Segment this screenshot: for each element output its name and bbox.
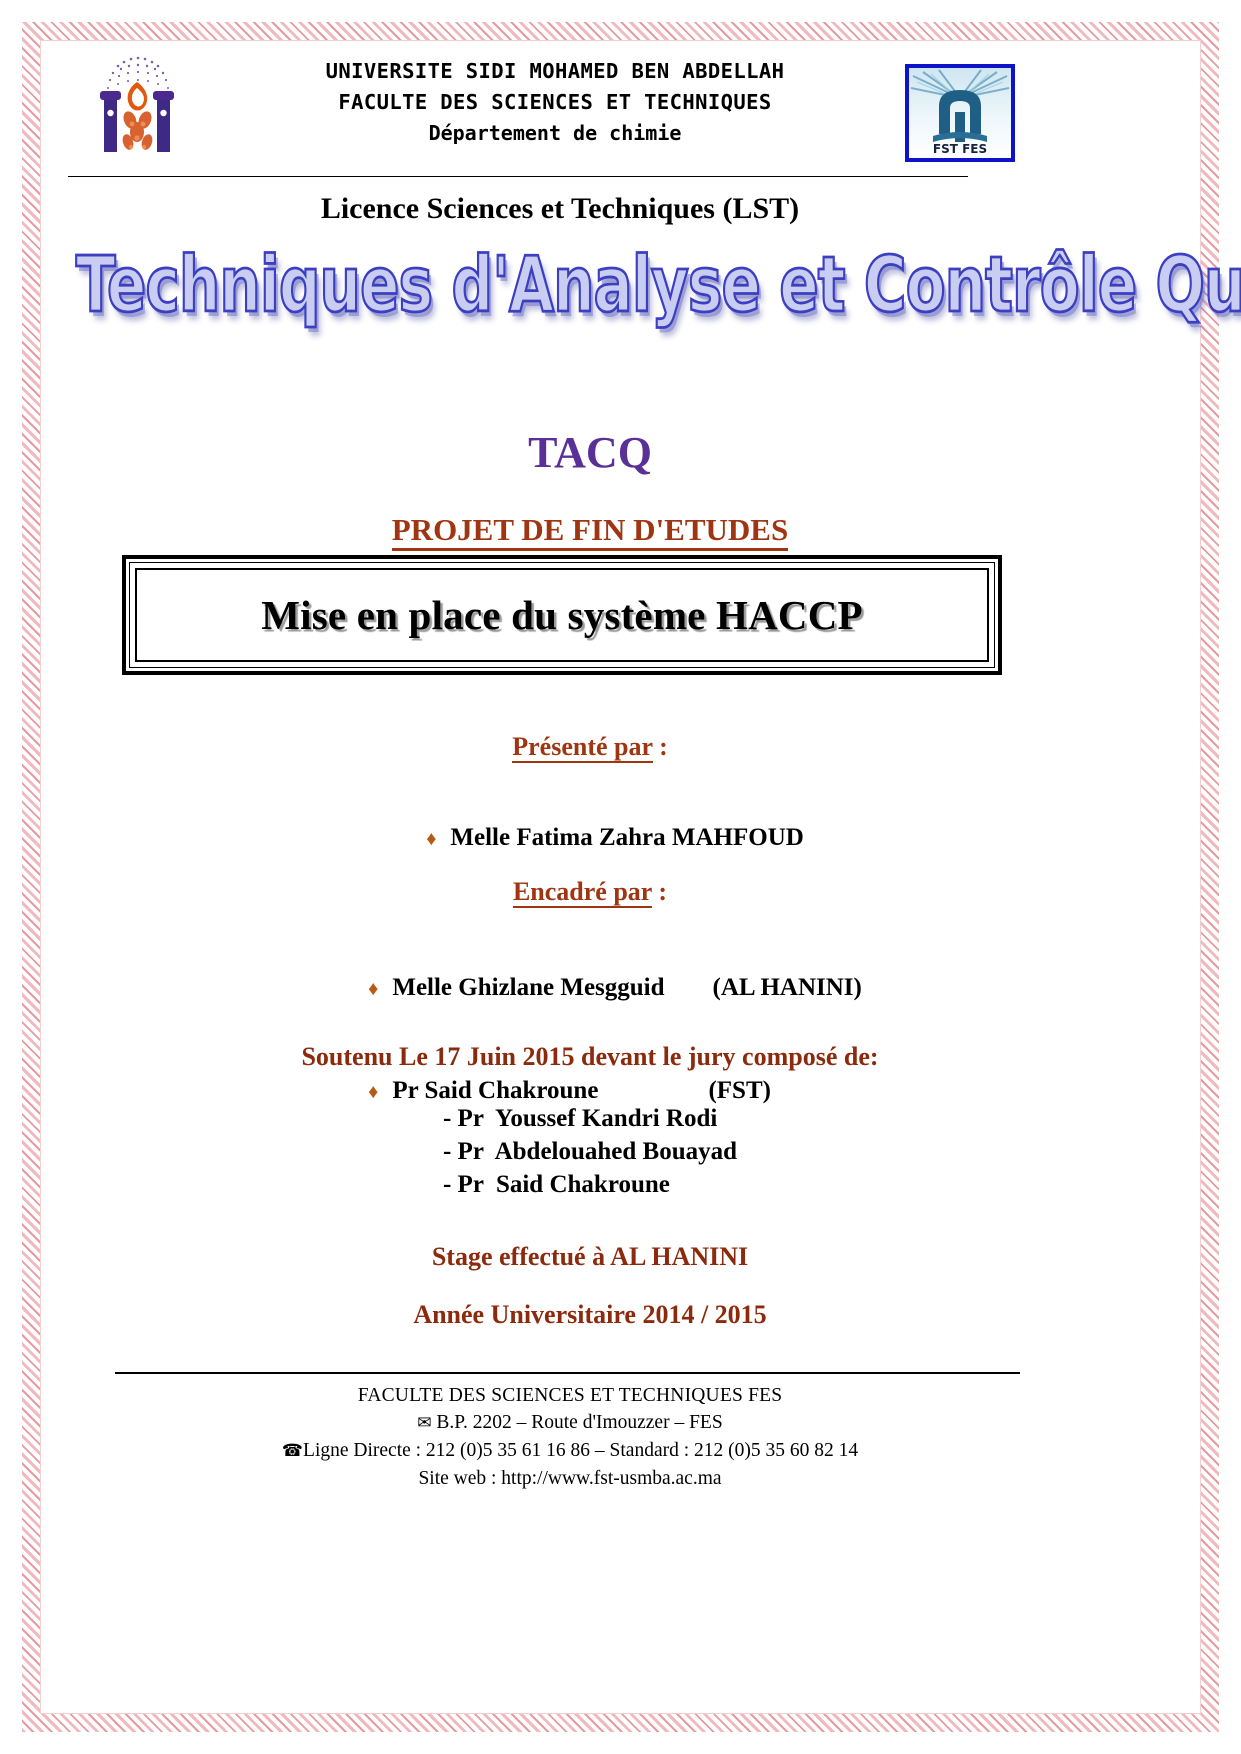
department-name: Département de chimie	[235, 118, 875, 149]
document-type: PROJET DE FIN D'ETUDES	[60, 512, 1120, 548]
defense-heading-text: Soutenu Le 17 Juin 2015 devant le jury c…	[301, 1042, 878, 1071]
usmba-logo	[88, 50, 186, 158]
faculty-name: FACULTE DES SCIENCES ET TECHNIQUES	[235, 87, 875, 118]
supervised-by-colon: :	[652, 877, 667, 906]
academic-year-text: Année Universitaire 2014 / 2015	[413, 1300, 766, 1329]
footer-address: B.P. 2202 – Route d'Imouzzer – FES	[432, 1412, 723, 1433]
program-acronym: TACQ	[60, 427, 1120, 478]
footer-divider	[115, 1372, 1020, 1374]
supervisor-name: Melle Ghizlane Mesgguid	[392, 974, 664, 1001]
supervised-by-label: Encadré par	[513, 877, 652, 908]
footer-phone: Ligne Directe : 212 (0)5 35 61 16 86 – S…	[303, 1440, 858, 1461]
jury-list: - Pr Youssef Kandri Rodi - Pr Abdelouahe…	[60, 1102, 1120, 1201]
presented-by-colon: :	[653, 732, 668, 761]
header-divider	[68, 176, 968, 177]
supervisor-affiliation: (FST)	[708, 1077, 771, 1104]
thesis-title-box-middle-rule: Mise en place du système HACCP	[129, 562, 995, 668]
footer-phone-line: ☎Ligne Directe : 212 (0)5 35 61 16 86 – …	[60, 1437, 1080, 1465]
document-header: UNIVERSITE SIDI MOHAMED BEN ABDELLAH FAC…	[60, 42, 1180, 167]
thesis-title: Mise en place du système HACCP	[261, 591, 863, 639]
footer-website: Site web : http://www.fst-usmba.ac.ma	[60, 1465, 1080, 1492]
diamond-bullet-icon: ♦	[368, 1081, 378, 1103]
supervisor-name: Pr Said Chakroune	[392, 1077, 598, 1104]
diamond-bullet-icon: ♦	[368, 978, 378, 1000]
academic-year-line: Année Universitaire 2014 / 2015	[60, 1300, 1120, 1330]
supervisor-affiliation: (AL HANINI)	[713, 974, 862, 1001]
document-type-label: PROJET DE FIN D'ETUDES	[392, 512, 788, 551]
mail-icon: ✉	[417, 1413, 431, 1433]
presenter-name: Melle Fatima Zahra MAHFOUD	[450, 824, 803, 851]
program-banner-title: Techniques d'Analyse et Contrôle Qualité	[76, 247, 1104, 324]
list-item: ♦Melle Fatima Zahra MAHFOUD	[376, 787, 804, 890]
fst-fes-logo: FST FES	[905, 64, 1015, 162]
list-item: - Pr Abdelouahed Bouayad	[443, 1135, 737, 1168]
defense-heading: Soutenu Le 17 Juin 2015 devant le jury c…	[60, 1042, 1120, 1072]
fst-fes-label: FST FES	[933, 142, 987, 156]
diamond-bullet-icon: ♦	[426, 828, 436, 850]
document-footer: FACULTE DES SCIENCES ET TECHNIQUES FES ✉…	[60, 1382, 1080, 1492]
internship-line: Stage effectué à AL HANINI	[60, 1242, 1120, 1272]
supervised-by-heading: Encadré par :	[60, 877, 1120, 907]
list-item: ♦Melle Ghizlane Mesgguid(AL HANINI)	[318, 937, 862, 1040]
presented-by-heading: Présenté par :	[60, 732, 1120, 762]
university-name: UNIVERSITE SIDI MOHAMED BEN ABDELLAH	[235, 56, 875, 87]
presented-by-label: Présenté par	[512, 732, 652, 763]
university-identity: UNIVERSITE SIDI MOHAMED BEN ABDELLAH FAC…	[235, 56, 875, 149]
thesis-title-box: Mise en place du système HACCP	[122, 555, 1002, 675]
internship-text: Stage effectué à AL HANINI	[432, 1242, 748, 1271]
degree-line: Licence Sciences et Techniques (LST)	[60, 192, 1060, 226]
phone-icon: ☎	[282, 1441, 303, 1461]
presented-by-list: ♦Melle Fatima Zahra MAHFOUD	[60, 787, 1120, 890]
list-item: - Pr Said Chakroune	[443, 1168, 737, 1201]
footer-address-line: ✉ B.P. 2202 – Route d'Imouzzer – FES	[60, 1409, 1080, 1437]
list-item: - Pr Youssef Kandri Rodi	[443, 1102, 737, 1135]
cover-page: UNIVERSITE SIDI MOHAMED BEN ABDELLAH FAC…	[60, 42, 1180, 1702]
thesis-title-box-inner-rule: Mise en place du système HACCP	[135, 568, 989, 662]
footer-faculty: FACULTE DES SCIENCES ET TECHNIQUES FES	[60, 1382, 1080, 1409]
